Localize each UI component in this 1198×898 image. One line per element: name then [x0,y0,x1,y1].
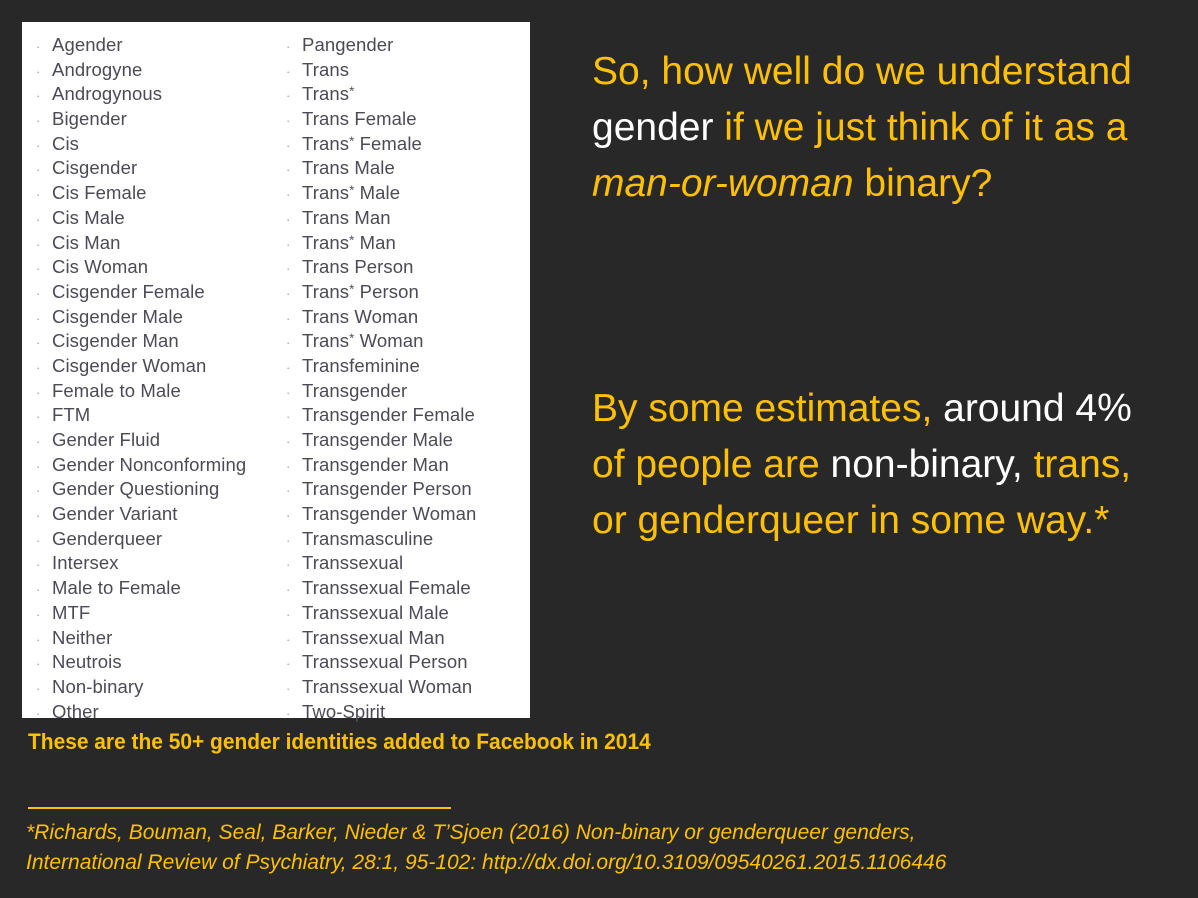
bullet-icon: · [286,336,302,349]
bullet-icon: · [286,682,302,695]
bullet-icon: · [36,707,52,720]
bullet-icon: · [286,583,302,596]
identity-label: Gender Questioning [52,478,219,500]
identity-label: Androgynous [52,83,162,105]
identity-label: Cis Female [52,182,147,204]
identity-label: Intersex [52,552,119,574]
bullet-icon: · [36,460,52,473]
bullet-icon: · [286,534,302,547]
identity-column-2: ·Pangender·Trans·Trans*·Trans Female·Tra… [276,34,530,718]
identity-list-item: ·Gender Variant [36,503,276,528]
bullet-icon: · [286,558,302,571]
identity-list-item: ·Female to Male [36,380,276,405]
identity-label: Gender Variant [52,503,178,525]
bullet-icon: · [36,410,52,423]
identity-label: MTF [52,602,90,624]
bullet-icon: · [36,114,52,127]
identity-label: Trans Male [302,157,395,179]
identity-list-item: ·Transfeminine [286,355,530,380]
identity-label: Trans Female [302,108,417,130]
identity-list-item: ·Transsexual Person [286,651,530,676]
identity-label: Non-binary [52,676,144,698]
estimate-part-1: By some estimates, [592,387,943,430]
identity-list-item: ·Transsexual Male [286,602,530,627]
identity-list-item: ·Cisgender Female [36,281,276,306]
bullet-icon: · [36,139,52,152]
identity-label: Trans Man [302,207,391,229]
identity-label: Bigender [52,108,127,130]
bullet-icon: · [286,188,302,201]
identity-list-item: ·Androgyne [36,59,276,84]
bullet-icon: · [36,682,52,695]
identity-list-item: ·Androgynous [36,83,276,108]
identity-list-item: ·Agender [36,34,276,59]
identity-list-item: ·Cisgender Male [36,306,276,331]
identity-list-item: ·Non-binary [36,676,276,701]
identity-label: Cis [52,133,79,155]
identity-label: Transmasculine [302,528,433,550]
identity-list-item: ·Trans Female [286,108,530,133]
identity-list-item: ·Transgender Female [286,404,530,429]
identity-label: Transgender Female [302,404,475,426]
identity-list-item: ·Trans* Person [286,281,530,306]
identity-list-item: ·Trans [286,59,530,84]
identity-label: Trans Woman [302,306,418,328]
identity-label: Transgender Person [302,478,472,500]
identity-label: Transgender Man [302,454,449,476]
estimate-part-3: of people are [592,443,831,486]
footnote-line-2: International Review of Psychiatry, 28:1… [26,848,1166,878]
identity-label: Transsexual Man [302,627,445,649]
identity-list-item: ·Trans Male [286,157,530,182]
identity-list-item: ·Trans* Man [286,232,530,257]
identity-list-item: ·Genderqueer [36,528,276,553]
identity-list-item: ·Trans* [286,83,530,108]
gender-identity-card: ·Agender·Androgyne·Androgynous·Bigender·… [22,22,530,718]
identity-list-item: ·Cisgender Woman [36,355,276,380]
bullet-icon: · [36,534,52,547]
bullet-icon: · [36,509,52,522]
bullet-icon: · [286,435,302,448]
bullet-icon: · [36,89,52,102]
bullet-icon: · [36,361,52,374]
bullet-icon: · [286,460,302,473]
identity-list-item: ·Trans Woman [286,306,530,331]
bullet-icon: · [286,509,302,522]
identity-list-item: ·Gender Fluid [36,429,276,454]
identity-label: Trans Person [302,256,414,278]
identity-label: Transsexual Woman [302,676,472,698]
identity-label: Cisgender Woman [52,355,206,377]
identity-label: Transsexual Female [302,577,471,599]
bullet-icon: · [286,484,302,497]
identity-list-item: ·Trans* Female [286,133,530,158]
card-caption: These are the 50+ gender identities adde… [28,729,651,755]
identity-label: Transsexual Male [302,602,449,624]
bullet-icon: · [286,163,302,176]
identity-list-item: ·Transmasculine [286,528,530,553]
identity-list-item: ·Cisgender [36,157,276,182]
bullet-icon: · [36,163,52,176]
identity-label: Cisgender [52,157,137,179]
identity-label: Neutrois [52,651,122,673]
identity-list-item: ·Intersex [36,552,276,577]
bullet-icon: · [286,608,302,621]
identity-label: Pangender [302,34,393,56]
bullet-icon: · [286,361,302,374]
bullet-icon: · [286,238,302,251]
identity-list-item: ·Transsexual Woman [286,676,530,701]
bullet-icon: · [36,188,52,201]
bullet-icon: · [286,386,302,399]
identity-label: Transsexual Person [302,651,468,673]
identity-list-item: ·Other [36,701,276,726]
identity-label: Neither [52,627,112,649]
bullet-icon: · [36,213,52,226]
identity-label: Male to Female [52,577,181,599]
identity-list-item: ·Cis Man [36,232,276,257]
identity-label: Trans [302,59,349,81]
identity-label: Agender [52,34,123,56]
identity-label: Transgender Woman [302,503,476,525]
bullet-icon: · [36,583,52,596]
identity-list-item: ·Male to Female [36,577,276,602]
bullet-icon: · [286,262,302,275]
headline-italic-man-or-woman: man-or-woman [592,162,854,205]
identity-list-item: ·Trans Man [286,207,530,232]
bullet-icon: · [36,336,52,349]
bullet-icon: · [286,139,302,152]
identity-list-item: ·Cisgender Man [36,330,276,355]
bullet-icon: · [36,558,52,571]
headline-question: So, how well do we understand gender if … [592,44,1152,212]
estimate-highlight-percentage: around 4% [943,387,1132,430]
identity-label: Transgender [302,380,407,402]
headline-part-1: So, how well do we understand [592,50,1132,93]
identity-list-item: ·Cis Woman [36,256,276,281]
bullet-icon: · [286,633,302,646]
identity-label: Trans* Male [302,182,400,204]
bullet-icon: · [286,707,302,720]
identity-list-item: ·Trans* Male [286,182,530,207]
identity-list-item: ·Transgender Person [286,478,530,503]
identity-label: Transsexual [302,552,403,574]
bullet-icon: · [36,608,52,621]
identity-label: Cisgender Male [52,306,183,328]
identity-label: Cis Man [52,232,121,254]
identity-label: Transfeminine [302,355,420,377]
bullet-icon: · [36,633,52,646]
bullet-icon: · [286,40,302,53]
bullet-icon: · [286,114,302,127]
identity-list-item: ·Trans Person [286,256,530,281]
identity-label: Cis Woman [52,256,148,278]
headline-part-5: binary? [854,162,993,205]
identity-label: Cisgender Man [52,330,179,352]
bullet-icon: · [36,657,52,670]
identity-label: Trans* Woman [302,330,424,352]
bullet-icon: · [286,89,302,102]
identity-label: Transgender Male [302,429,453,451]
estimate-statement: By some estimates, around 4% of people a… [592,381,1152,549]
identity-label: Trans* Person [302,281,419,303]
identity-list-item: ·FTM [36,404,276,429]
identity-list-item: ·Bigender [36,108,276,133]
identity-list-item: ·Gender Nonconforming [36,454,276,479]
estimate-highlight-nonbinary: non-binary, [831,443,1023,486]
identity-list-item: ·Trans* Woman [286,330,530,355]
identity-list-item: ·Cis [36,133,276,158]
identity-label: Androgyne [52,59,142,81]
identity-list-item: ·MTF [36,602,276,627]
headline-part-3: if we just think of it as a [713,106,1127,149]
identity-list-item: ·Transsexual Female [286,577,530,602]
identity-list-item: ·Two-Spirit [286,701,530,726]
bullet-icon: · [286,287,302,300]
identity-list-item: ·Cis Female [36,182,276,207]
identity-label: Trans* [302,83,354,105]
identity-label: Gender Nonconforming [52,454,246,476]
bullet-icon: · [36,238,52,251]
bullet-icon: · [36,312,52,325]
identity-list-item: ·Cis Male [36,207,276,232]
identity-list-item: ·Pangender [286,34,530,59]
identity-list-item: ·Transgender [286,380,530,405]
identity-list-item: ·Gender Questioning [36,478,276,503]
identity-label: FTM [52,404,90,426]
identity-label: Trans* Man [302,232,396,254]
identity-label: Two-Spirit [302,701,385,723]
identity-list-item: ·Transgender Male [286,429,530,454]
footnote-line-1: *Richards, Bouman, Seal, Barker, Nieder … [26,818,1166,848]
identity-list-item: ·Transsexual [286,552,530,577]
identity-label: Cisgender Female [52,281,205,303]
headline-highlight-gender: gender [592,106,713,149]
bullet-icon: · [286,312,302,325]
bullet-icon: · [36,386,52,399]
bullet-icon: · [286,65,302,78]
identity-column-1: ·Agender·Androgyne·Androgynous·Bigender·… [22,34,276,718]
bullet-icon: · [36,65,52,78]
footnote-citation: *Richards, Bouman, Seal, Barker, Nieder … [26,818,1166,878]
identity-list-item: ·Transgender Man [286,454,530,479]
identity-label: Other [52,701,99,723]
identity-list-item: ·Transgender Woman [286,503,530,528]
identity-list-item: ·Transsexual Man [286,627,530,652]
bullet-icon: · [286,410,302,423]
identity-label: Female to Male [52,380,181,402]
bullet-icon: · [36,484,52,497]
identity-label: Genderqueer [52,528,162,550]
bullet-icon: · [36,262,52,275]
bullet-icon: · [36,40,52,53]
bullet-icon: · [286,213,302,226]
identity-list-item: ·Neither [36,627,276,652]
bullet-icon: · [36,435,52,448]
footnote-divider [28,807,451,809]
identity-label: Gender Fluid [52,429,160,451]
identity-label: Trans* Female [302,133,422,155]
identity-list-item: ·Neutrois [36,651,276,676]
bullet-icon: · [36,287,52,300]
bullet-icon: · [286,657,302,670]
identity-label: Cis Male [52,207,125,229]
